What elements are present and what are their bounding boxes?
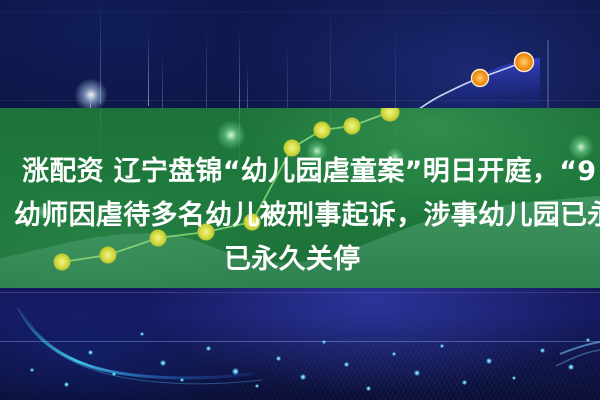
particle-icon	[232, 368, 239, 375]
particle-icon	[322, 340, 326, 344]
particle-icon	[206, 346, 211, 351]
particle-icon	[568, 364, 574, 370]
glow-particle-icon	[216, 120, 246, 150]
particle-icon	[366, 386, 371, 391]
data-point-marker	[344, 118, 361, 135]
particle-icon	[440, 344, 444, 348]
particle-icon	[344, 362, 349, 367]
arc-stroke	[18, 308, 262, 384]
headline-line-3: 已永久关停	[0, 238, 600, 282]
particle-icon	[180, 378, 184, 382]
data-point-marker	[472, 70, 489, 87]
particle-icon	[462, 380, 467, 385]
particle-icon	[112, 372, 116, 376]
bottom-tech-panel	[0, 288, 600, 400]
headline-line-1: 涨配资 辽宁盘锦“幼儿园虐童案”明日开庭，“9	[0, 150, 600, 194]
headline: 涨配资 辽宁盘锦“幼儿园虐童案”明日开庭，“9 幼师因虐待多名幼儿被刑事起诉，涉…	[0, 150, 600, 282]
particle-icon	[414, 370, 420, 376]
particle-icon	[586, 338, 590, 342]
glow-particle-icon	[74, 78, 108, 112]
particle-icon	[160, 360, 166, 366]
particle-icon	[392, 352, 396, 356]
data-point-marker	[515, 53, 534, 72]
particle-icon	[300, 374, 306, 380]
particle-icon	[64, 382, 69, 387]
arc-stroke	[22, 312, 252, 378]
data-point-marker	[314, 122, 331, 139]
particle-icon	[255, 384, 259, 388]
arc-stroke	[560, 342, 600, 354]
headline-line-2: 幼师因虐待多名幼儿被刑事起诉，涉事幼儿园已永久	[0, 194, 600, 238]
particle-icon	[140, 332, 144, 336]
particle-icon	[276, 356, 281, 361]
bottom-glow-arc	[0, 288, 600, 400]
news-banner: 涨配资 辽宁盘锦“幼儿园虐童案”明日开庭，“9 幼师因虐待多名幼儿被刑事起诉，涉…	[0, 0, 600, 400]
particle-icon	[30, 368, 34, 372]
particle-icon	[512, 376, 516, 380]
particle-icon	[540, 348, 545, 353]
particle-icon	[88, 350, 93, 355]
data-point-marker	[381, 108, 400, 122]
light-streak-icon	[90, 95, 91, 109]
particle-icon	[486, 358, 492, 364]
